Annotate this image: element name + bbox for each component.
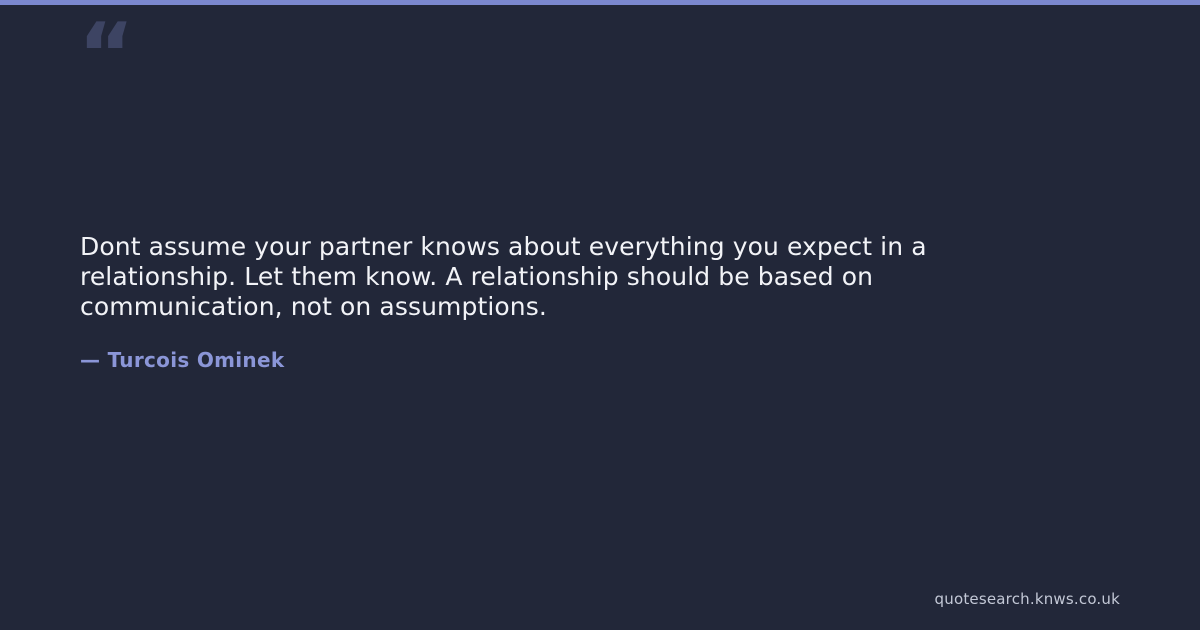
quote-text: Dont assume your partner knows about eve… xyxy=(80,232,1000,322)
quote-body: Dont assume your partner knows about eve… xyxy=(80,232,1000,322)
site-url-label: quotesearch.knws.co.uk xyxy=(935,590,1120,608)
top-accent-bar xyxy=(0,0,1200,5)
quote-author: — Turcois Ominek xyxy=(80,348,284,372)
quotation-mark-icon: “ xyxy=(78,12,133,98)
quote-card: “ Dont assume your partner knows about e… xyxy=(0,0,1200,630)
